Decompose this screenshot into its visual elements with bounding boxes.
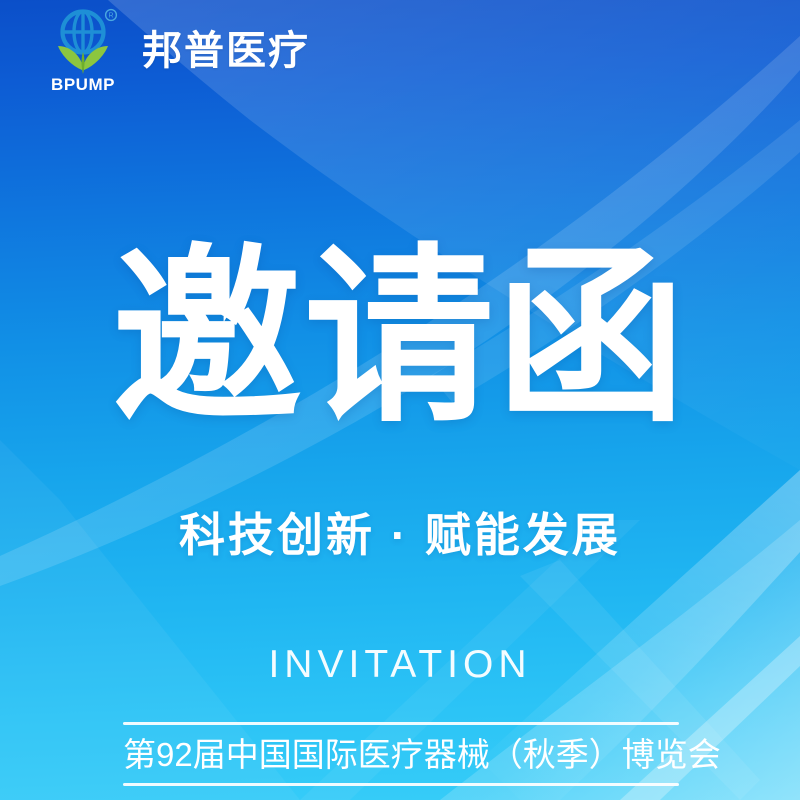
headline: 邀请函 [0,243,800,433]
svg-text:R: R [108,13,113,20]
latin-subtitle-text: INVITATION [268,645,531,684]
event-name-line: 第92届中国国际医疗器械（秋季）博览会 [123,725,679,783]
slogan: 科技创新 · 赋能发展 [0,508,800,563]
latin-subtitle: INVITATION [0,645,800,684]
slogan-text: 科技创新 · 赋能发展 [179,508,621,563]
divider-bottom [123,783,679,786]
bpump-wordmark: BPUMP [51,75,115,94]
invitation-poster: R BPUMP 邦普医疗 邀请函 科技创新 · 赋能发展 INVITATION … [0,0,800,800]
bpump-logo-icon: R BPUMP [42,8,124,94]
brand-name-cn: 邦普医疗 [142,31,310,71]
brand-lockup: R BPUMP 邦普医疗 [42,8,310,94]
event-name-text: 第92届中国国际医疗器械（秋季）博览会 [123,734,721,775]
headline-text: 邀请函 [112,243,688,433]
footer: 第92届中国国际医疗器械（秋季）博览会 [123,722,679,786]
